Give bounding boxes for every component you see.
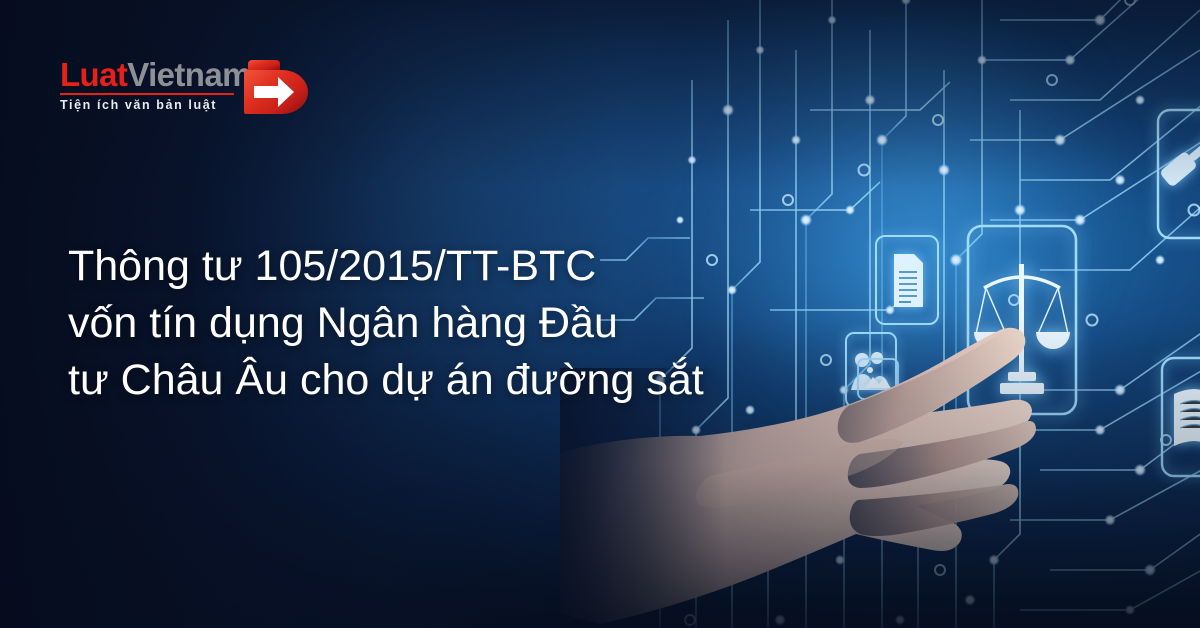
logo-brand-part2: Vietnam xyxy=(127,56,251,93)
headline-line-3: tư Châu Âu cho dự án đường sắt xyxy=(68,352,768,409)
headline-block: Thông tư 105/2015/TT-BTC vốn tín dụng Ng… xyxy=(68,238,768,409)
headline-line-1: Thông tư 105/2015/TT-BTC xyxy=(68,238,768,295)
logo-divider xyxy=(60,93,234,95)
headline-line-2: vốn tín dụng Ngân hàng Đầu xyxy=(68,295,768,352)
luatvietnam-logo[interactable]: LuatVietnam Tiện ích văn bản luật xyxy=(60,58,320,136)
folder-arrow-icon xyxy=(238,54,314,118)
banner-canvas: LuatVietnam Tiện ích văn bản luật xyxy=(0,0,1200,628)
logo-brand-part1: Luat xyxy=(60,56,127,93)
